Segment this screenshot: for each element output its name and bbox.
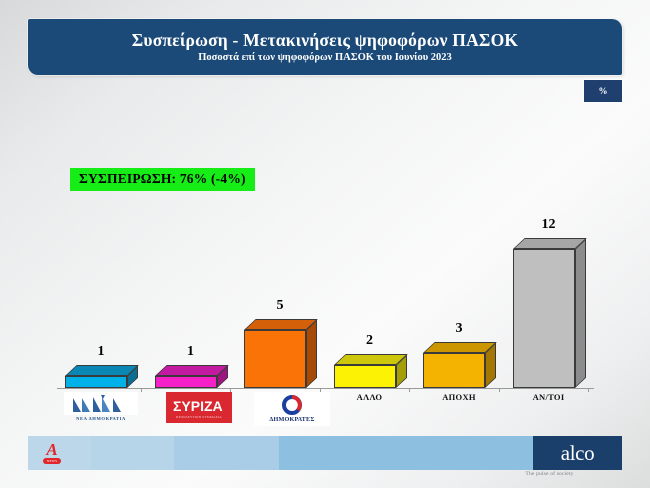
- alco-tagline: The pulse of society: [505, 471, 594, 477]
- bar-value-label: 1: [57, 344, 145, 360]
- bar-value-label: 5: [236, 298, 324, 314]
- footer-segment-4: [279, 436, 533, 470]
- bar-value-label: 3: [415, 321, 503, 337]
- bar-side-face: [306, 320, 317, 388]
- footer-bar: A NEWS alco: [28, 436, 622, 470]
- bar-slot: 1: [57, 108, 145, 388]
- syriza-logo-icon: ΣΥΡΙΖΑ ΠΡΟΟΔΕΥΤΙΚΗ ΣΥΜΜΑΧΙΑ: [166, 392, 232, 423]
- bar-ΑΠΟΧΗ[interactable]: [423, 353, 485, 388]
- bar-ΑΝ/ΤΟΙ[interactable]: [513, 249, 575, 388]
- footer-segment-3: [174, 436, 279, 470]
- logo-syriza: ΣΥΡΙΖΑ ΠΡΟΟΔΕΥΤΙΚΗ ΣΥΜΜΑΧΙΑ: [155, 392, 243, 430]
- page-title: Συσπείρωση - Μετακινήσεις ψηφοφόρων ΠΑΣΟ…: [132, 31, 518, 50]
- bar-value-label: 1: [147, 344, 235, 360]
- dimokrates-logo-icon: ΔΗΜΟΚΡΑΤΕΣ: [254, 392, 330, 426]
- bar-ΔΗΜΟΚΡΑΤΕΣ[interactable]: [244, 330, 306, 388]
- alco-wordmark: alco: [561, 441, 594, 466]
- page-subtitle: Ποσοστά επί των ψηφοφόρων ΠΑΣΟΚ του Ιουν…: [198, 52, 452, 63]
- dimokrates-logo-label: ΔΗΜΟΚΡΑΤΕΣ: [269, 416, 314, 423]
- alco-logo: alco: [533, 436, 622, 470]
- nd-logo-icon: [64, 392, 138, 415]
- bar-ΝΔ[interactable]: [65, 376, 127, 388]
- title-banner: Συσπείρωση - Μετακινήσεις ψηφοφόρων ΠΑΣΟ…: [28, 19, 622, 75]
- bar-front-face: [334, 365, 396, 388]
- bar-top-face: [65, 365, 139, 376]
- bar-front-face: [423, 353, 485, 388]
- nd-mark-icon: [71, 394, 131, 414]
- x-axis-line: [57, 388, 594, 389]
- bar-value-label: 12: [505, 217, 593, 233]
- bar-slot: 3: [415, 108, 503, 388]
- slide-canvas: Συσπείρωση - Μετακινήσεις ψηφοφόρων ΠΑΣΟ…: [0, 0, 650, 488]
- bar-slot: 1: [147, 108, 235, 388]
- bar-top-face: [334, 354, 408, 365]
- bar-top-face: [513, 238, 587, 249]
- nd-logo-label: ΝΕΑ ΔΗΜΟΚΡΑΤΙΑ: [76, 416, 126, 421]
- svg-text:ΣΥΡΙΖΑ: ΣΥΡΙΖΑ: [173, 398, 223, 414]
- logo-dimokrates: ΔΗΜΟΚΡΑΤΕΣ: [248, 392, 336, 430]
- party-logos-strip: ΝΕΑ ΔΗΜΟΚΡΑΤΙΑ ΣΥΡΙΖΑ ΠΡΟΟΔΕΥΤΙΚΗ ΣΥΜΜΑΧ…: [0, 392, 650, 432]
- dimokrates-circle-icon: [282, 395, 302, 415]
- percent-unit-badge: %: [584, 80, 622, 102]
- footer-segment-2: [91, 436, 174, 470]
- bar-ΑΛΛΟ[interactable]: [334, 365, 396, 388]
- bar-front-face: [513, 249, 575, 388]
- news-letter-mark: A: [46, 443, 57, 457]
- bar-front-face: [244, 330, 306, 388]
- bar-top-face: [155, 365, 229, 376]
- syriza-logo-sublabel: ΠΡΟΟΔΕΥΤΙΚΗ ΣΥΜΜΑΧΙΑ: [176, 415, 222, 419]
- bar-slot: 2: [326, 108, 414, 388]
- bar-value-label: 2: [326, 333, 414, 349]
- bar-side-face: [575, 239, 586, 388]
- bar-slot: 5: [236, 108, 324, 388]
- bar-chart-plot-area: 1152312 ΑΛΛΟΑΠΟΧΗΑΝ/ΤΟΙ: [0, 100, 650, 390]
- bar-front-face: [65, 376, 127, 388]
- bar-slot: 12: [505, 108, 593, 388]
- bar-top-face: [244, 319, 318, 330]
- bar-ΣΥΡΙΖΑ[interactable]: [155, 376, 217, 388]
- news-logo-icon: A NEWS: [40, 441, 64, 466]
- bar-top-face: [423, 342, 497, 353]
- bar-front-face: [155, 376, 217, 388]
- syriza-wordmark-icon: ΣΥΡΙΖΑ: [171, 397, 227, 414]
- footer-segment-1: A NEWS: [28, 436, 91, 470]
- news-sub-label: NEWS: [43, 458, 61, 464]
- logo-nea-dimokratia: ΝΕΑ ΔΗΜΟΚΡΑΤΙΑ: [57, 392, 145, 430]
